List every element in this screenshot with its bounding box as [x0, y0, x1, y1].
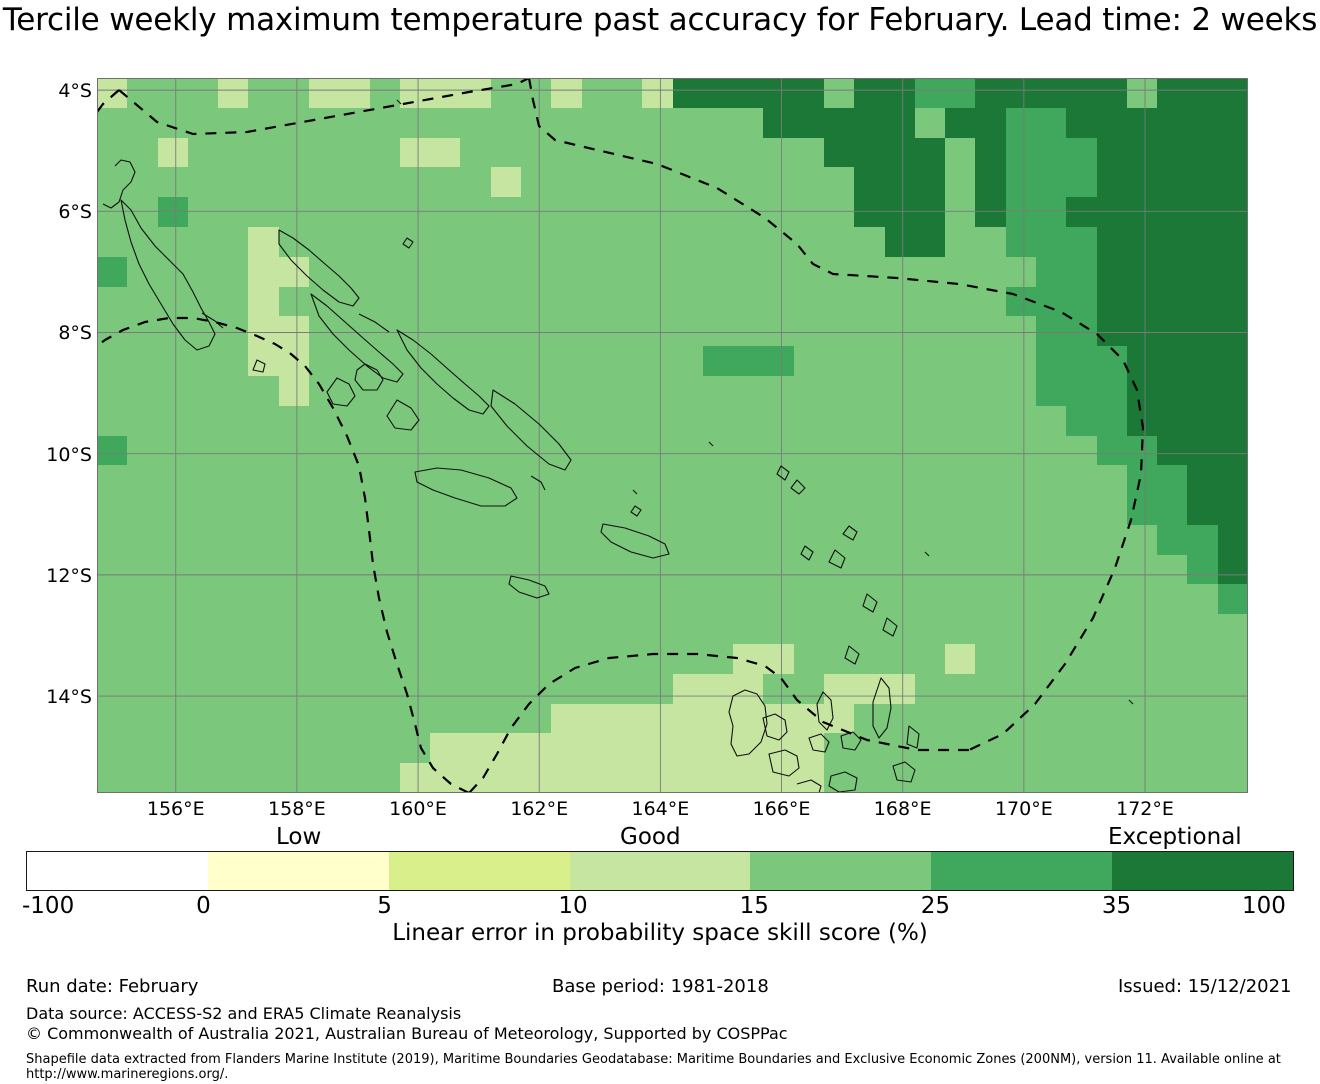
colorbar-segment-0[interactable] — [27, 852, 208, 890]
run-date: Run date: February — [26, 976, 198, 997]
y-axis-tick: 8°S — [12, 322, 92, 344]
colorbar-segment-2[interactable] — [389, 852, 570, 890]
shapefile-credit-line2: http://www.marineregions.org/. — [26, 1065, 228, 1084]
y-axis-tick: 6°S — [12, 201, 92, 223]
x-axis-tick: 162°E — [479, 798, 599, 820]
x-axis-tick: 160°E — [358, 798, 478, 820]
y-axis-tick: 4°S — [12, 80, 92, 102]
colorbar-segment-4[interactable] — [750, 852, 931, 890]
issued-date: Issued: 15/12/2021 — [1118, 976, 1292, 997]
colorbar-tick: 25 — [921, 893, 950, 919]
y-axis-tick: 14°S — [12, 686, 92, 708]
page-title: Tercile weekly maximum temperature past … — [0, 2, 1320, 38]
colorbar[interactable] — [26, 851, 1294, 891]
x-axis-tick: 170°E — [964, 798, 1084, 820]
y-axis-tick: 10°S — [12, 444, 92, 466]
x-axis-tick: 166°E — [722, 798, 842, 820]
x-axis-tick: 156°E — [116, 798, 236, 820]
colorbar-segment-5[interactable] — [931, 852, 1112, 890]
data-source: Data source: ACCESS-S2 and ERA5 Climate … — [26, 1003, 461, 1024]
x-axis-tick: 168°E — [843, 798, 963, 820]
colorbar-category: Good — [620, 824, 681, 850]
x-axis-tick: 172°E — [1085, 798, 1205, 820]
y-axis-tick: 12°S — [12, 565, 92, 587]
x-axis-tick: 164°E — [600, 798, 720, 820]
colorbar-segment-3[interactable] — [570, 852, 751, 890]
map-heatmap — [97, 78, 1248, 793]
coastline-and-eez — [97, 78, 1248, 793]
colorbar-tick: -100 — [22, 893, 74, 919]
x-axis-tick: 158°E — [237, 798, 357, 820]
colorbar-tick: 35 — [1102, 893, 1131, 919]
colorbar-tick: 0 — [196, 893, 211, 919]
colorbar-axis-label: Linear error in probability space skill … — [0, 920, 1320, 946]
colorbar-tick: 15 — [740, 893, 769, 919]
colorbar-segment-1[interactable] — [208, 852, 389, 890]
copyright: © Commonwealth of Australia 2021, Austra… — [26, 1023, 788, 1044]
colorbar-category: Exceptional — [1108, 824, 1242, 850]
colorbar-segment-6[interactable] — [1112, 852, 1293, 890]
base-period: Base period: 1981-2018 — [552, 976, 769, 997]
colorbar-tick: 10 — [558, 893, 587, 919]
colorbar-tick: 100 — [1242, 893, 1286, 919]
colorbar-tick: 5 — [377, 893, 392, 919]
colorbar-category: Low — [276, 824, 321, 850]
